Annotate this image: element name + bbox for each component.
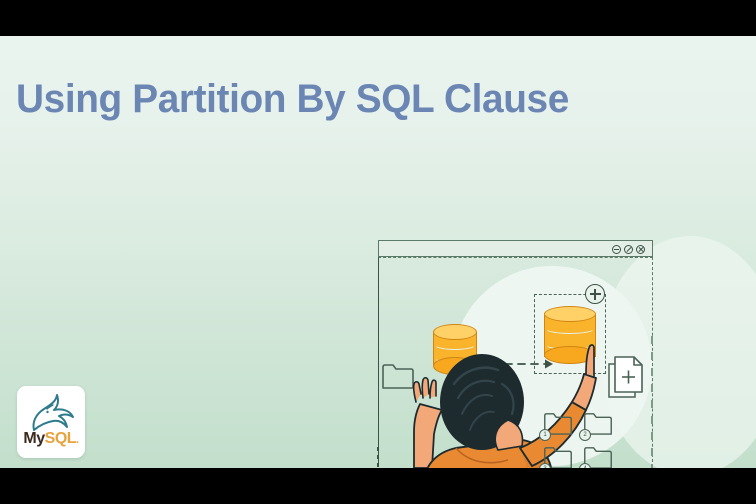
mysql-logo: MySQL. [17,386,85,458]
wordmark-sql: SQL [45,430,76,447]
browser-titlebar [378,240,653,257]
page-title: Using Partition By SQL Clause [16,76,569,122]
list-item[interactable]: 3 [543,445,573,468]
wordmark-trademark: . [76,434,79,446]
minimize-icon[interactable] [612,245,621,254]
slide-canvas: Using Partition By SQL Clause MySQL. [0,0,756,504]
folder-number-badge: 1 [539,429,551,441]
letterbox-top [0,0,756,36]
maximize-icon[interactable] [624,245,633,254]
slide-content: Using Partition By SQL Clause MySQL. [0,36,756,468]
folder-number-badge: 2 [579,429,591,441]
mysql-wordmark: MySQL. [17,430,85,448]
dashed-divider [651,336,653,468]
dolphin-icon [26,392,76,434]
list-item[interactable]: 1 [543,411,573,436]
letterbox-bottom [0,468,756,504]
list-item[interactable]: 4 [583,445,613,468]
add-partition-icon[interactable] [585,284,605,304]
wordmark-my: My [23,430,44,447]
add-document-icon[interactable] [607,354,647,402]
close-icon[interactable] [636,245,645,254]
list-item[interactable]: 2 [583,411,613,436]
